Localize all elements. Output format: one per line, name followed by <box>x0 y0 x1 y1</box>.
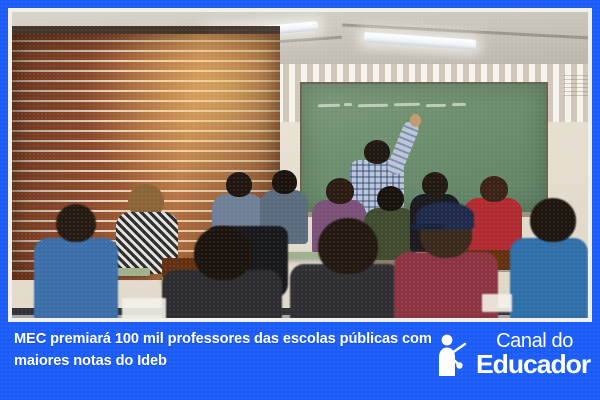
news-card: MEC premiará 100 mil professores das esc… <box>0 0 600 400</box>
teacher-hand <box>410 114 421 127</box>
photo-frame <box>8 8 592 322</box>
paper <box>482 294 512 312</box>
wall-notice <box>564 74 588 96</box>
brand-line-2: Educador <box>476 351 590 377</box>
paper <box>122 298 166 318</box>
headline-text: MEC premiará 100 mil professores das esc… <box>14 328 434 372</box>
brand-line-1: Canal do <box>496 331 573 351</box>
brand-logo[interactable]: Canal do Educador <box>434 328 588 380</box>
caption-bar: MEC premiará 100 mil professores das esc… <box>0 322 600 400</box>
cap-brim <box>410 224 444 229</box>
classroom-photo <box>12 12 588 318</box>
presenter-person-icon <box>434 331 472 377</box>
teacher-head <box>364 140 390 164</box>
brand-wordmark: Canal do Educador <box>476 331 588 377</box>
